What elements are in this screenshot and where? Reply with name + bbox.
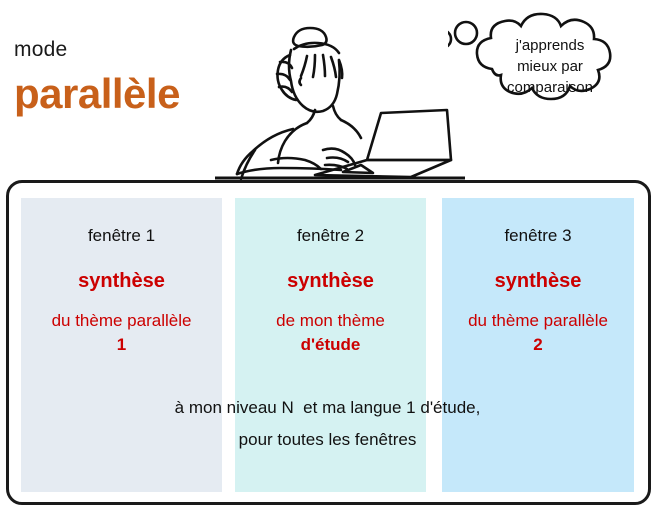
window-column-1-content: fenêtre 1 synthèse du thème parallèle 1 (21, 198, 222, 357)
window-column-1[interactable]: fenêtre 1 synthèse du thème parallèle 1 (21, 198, 222, 492)
person-at-laptop-illustration (215, 0, 465, 182)
window-3-subtitle: du thème parallèle 2 (442, 309, 634, 357)
window-column-3-content: fenêtre 3 synthèse du thème parallèle 2 (442, 198, 634, 357)
window-3-emphasis: 2 (442, 333, 634, 357)
window-column-3[interactable]: fenêtre 3 synthèse du thème parallèle 2 (442, 198, 634, 492)
window-3-label: fenêtre 3 (442, 225, 634, 247)
windows-columns: fenêtre 1 synthèse du thème parallèle 1 … (21, 198, 634, 492)
window-2-emphasis: d'étude (235, 333, 426, 357)
window-2-heading: synthèse (235, 269, 426, 293)
window-3-heading: synthèse (442, 269, 634, 293)
window-2-subtitle-text: de mon thème (276, 311, 385, 330)
bubble-line-3: comparaison (470, 77, 630, 98)
window-2-subtitle: de mon thème d'étude (235, 309, 426, 357)
window-1-heading: synthèse (21, 269, 222, 293)
window-column-2-content: fenêtre 2 synthèse de mon thème d'étude (235, 198, 426, 357)
window-column-2[interactable]: fenêtre 2 synthèse de mon thème d'étude (235, 198, 426, 492)
bubble-line-1: j'apprends (470, 35, 630, 56)
mode-name-title: parallèle (14, 70, 180, 118)
window-1-subtitle: du thème parallèle 1 (21, 309, 222, 357)
window-1-emphasis: 1 (21, 333, 222, 357)
slide-canvas: mode parallèle (0, 0, 657, 515)
window-3-subtitle-text: du thème parallèle (468, 311, 608, 330)
bubble-line-2: mieux par (470, 56, 630, 77)
window-2-label: fenêtre 2 (235, 225, 426, 247)
mode-label: mode (14, 38, 67, 62)
window-1-label: fenêtre 1 (21, 225, 222, 247)
thought-bubble-text: j'apprends mieux par comparaison (470, 35, 630, 98)
window-1-subtitle-text: du thème parallèle (52, 311, 192, 330)
